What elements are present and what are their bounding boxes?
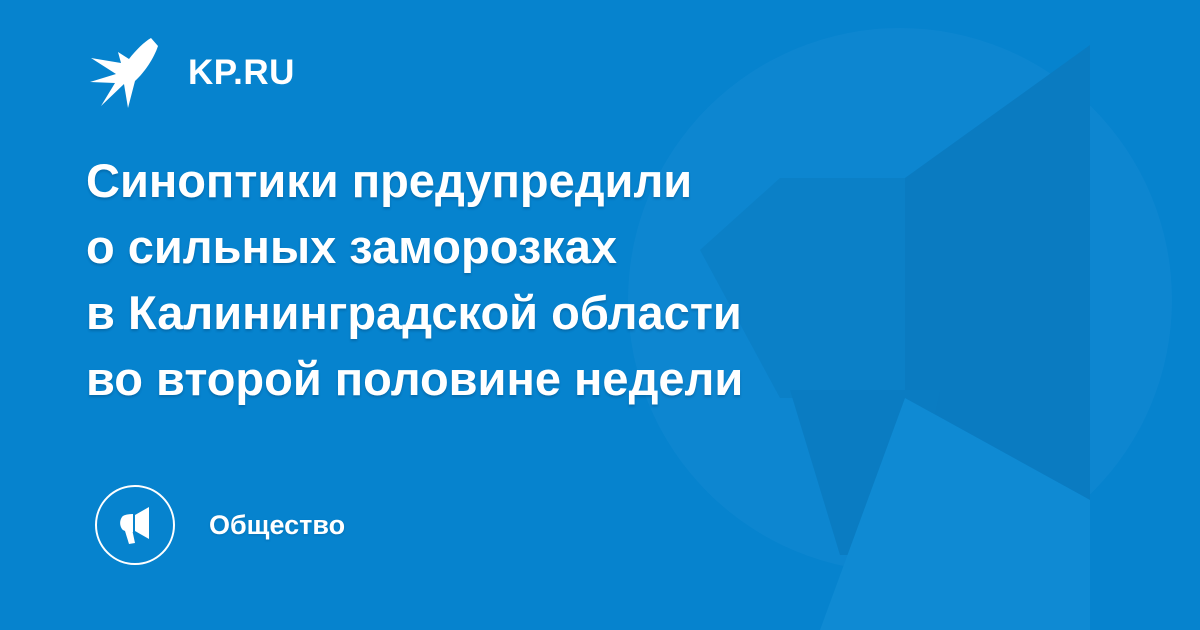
headline-line: о сильных заморозках — [86, 214, 966, 280]
page-title: Синоптики предупредили о сильных замороз… — [86, 148, 966, 412]
headline-line: Синоптики предупредили — [86, 148, 966, 214]
site-logo[interactable]: KP.RU — [88, 34, 295, 110]
category-icon-circle — [95, 485, 175, 565]
news-share-card: KP.RU Синоптики предупредили о сильных з… — [0, 0, 1200, 630]
megaphone-icon — [113, 503, 157, 547]
category-label: Общество — [209, 512, 345, 539]
watermark-handle — [790, 390, 940, 555]
swallow-bird-icon — [88, 36, 166, 108]
site-logo-wordmark: KP.RU — [188, 55, 295, 90]
watermark-highlight — [820, 398, 1090, 630]
category-badge[interactable]: Общество — [95, 485, 345, 565]
headline-line: в Калининградской области — [86, 280, 966, 346]
headline-line: во второй половине недели — [86, 346, 966, 412]
